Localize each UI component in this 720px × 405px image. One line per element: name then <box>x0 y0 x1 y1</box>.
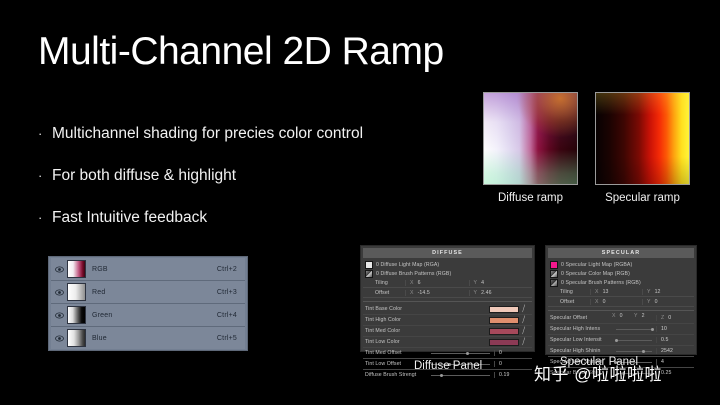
offset-y-value: 2.46 <box>481 290 492 296</box>
color-swatch[interactable] <box>489 317 519 324</box>
slider-knob[interactable] <box>440 374 443 377</box>
slider-track[interactable] <box>616 329 652 330</box>
specular-offset-y-field[interactable]: Y2 <box>634 313 656 323</box>
diffuse-panel-caption: Diffuse Panel <box>414 360 482 372</box>
axis-y-label: Y <box>474 290 478 296</box>
map-row[interactable]: 0 Specular Brush Patterns (RGB) <box>548 278 694 287</box>
zhihu-watermark: 知乎 @啦啦啦啦 <box>534 360 662 385</box>
channel-row-green[interactable]: GreenCtrl+4 <box>51 304 245 327</box>
tiling-label: Tiling <box>363 280 405 286</box>
eye-icon[interactable] <box>51 266 67 273</box>
specular-panel-header: SPECULAR <box>548 248 694 258</box>
eye-icon <box>55 312 64 319</box>
color-controls: ╱ <box>489 306 532 313</box>
map-label: 0 Specular Light Map (RGBA) <box>561 262 632 268</box>
property-label: Specular High Intens <box>550 326 612 332</box>
axis-y-label: Y <box>647 289 651 295</box>
slider-track[interactable] <box>431 353 490 354</box>
property-row[interactable]: Tint High Color╱ <box>363 315 532 326</box>
map-label: 0 Diffuse Light Map (RGA) <box>376 262 439 268</box>
channel-name: Red <box>92 289 217 296</box>
specular-offset-x-field[interactable]: X0 <box>612 313 634 323</box>
offset-x-field[interactable]: X0 <box>590 299 642 305</box>
tiling-x-field[interactable]: X6 <box>405 280 469 286</box>
specular-offset-row[interactable]: Specular Offset X0 Y2 Z0 <box>548 313 694 324</box>
property-slider[interactable] <box>612 346 656 356</box>
property-label: Tint Med Offset <box>365 350 427 356</box>
tiling-x-field[interactable]: X13 <box>590 289 642 295</box>
offset-x-value: -14.5 <box>418 290 430 296</box>
bullet-text: For both diffuse & highlight <box>52 167 236 185</box>
offset-x-field[interactable]: X-14.5 <box>405 290 469 296</box>
property-row[interactable]: Specular High Intens10 <box>548 324 694 335</box>
map-row[interactable]: 0 Diffuse Brush Patterns (RGB) <box>363 269 532 278</box>
eyedropper-icon[interactable]: ╱ <box>522 327 531 334</box>
property-value[interactable]: 2542 <box>656 348 694 354</box>
bullet-dot-icon: · <box>38 211 52 224</box>
bullet-text: Fast Intuitive feedback <box>52 209 207 227</box>
eyedropper-icon[interactable]: ╱ <box>522 316 531 323</box>
specular-ramp-image <box>595 92 690 185</box>
property-spacer <box>427 315 489 325</box>
map-label: 0 Specular Color Map (RGB) <box>561 271 630 277</box>
property-label: Diffuse Brush Strengt <box>365 372 427 378</box>
offset-row[interactable]: Offset X0 Y0 <box>548 297 694 307</box>
list-item: · Multichannel shading for precies color… <box>38 125 468 147</box>
eyedropper-icon[interactable]: ╱ <box>522 338 531 345</box>
channel-thumbnail-icon <box>67 283 86 301</box>
channel-row-blue[interactable]: BlueCtrl+5 <box>51 327 245 349</box>
map-row[interactable]: 0 Diffuse Light Map (RGA) <box>363 260 532 269</box>
property-label: Specular Low Intensit <box>550 337 612 343</box>
channel-shortcut: Ctrl+2 <box>217 266 245 273</box>
channel-row-rgb[interactable]: RGBCtrl+2 <box>51 258 245 281</box>
map-thumbnail-icon[interactable] <box>550 279 558 287</box>
channel-shortcut: Ctrl+4 <box>217 312 245 319</box>
property-value[interactable]: 0 <box>494 361 532 367</box>
property-slider[interactable] <box>612 324 656 334</box>
map-thumbnail-icon[interactable] <box>365 261 373 269</box>
slider-track[interactable] <box>616 340 652 341</box>
channel-shortcut: Ctrl+5 <box>217 335 245 342</box>
map-label: 0 Diffuse Brush Patterns (RGB) <box>376 271 451 277</box>
property-row[interactable]: Tint Med Offset0 <box>363 348 532 359</box>
color-controls: ╱ <box>489 328 532 335</box>
property-value[interactable]: 10 <box>656 326 694 332</box>
color-controls: ╱ <box>489 339 532 346</box>
property-spacer <box>427 326 489 336</box>
eye-icon <box>55 266 64 273</box>
specular-offset-z-field[interactable]: Z0 <box>656 315 694 321</box>
axis-y-label: Y <box>474 280 478 286</box>
map-label: 0 Specular Brush Patterns (RGB) <box>561 280 641 286</box>
diffuse-ramp-caption: Diffuse ramp <box>483 192 578 204</box>
map-row[interactable]: 0 Specular Color Map (RGB) <box>548 269 694 278</box>
specular-offset-x-value: 0 <box>620 313 623 319</box>
map-thumbnail-icon[interactable] <box>365 270 373 278</box>
color-controls: ╱ <box>489 317 532 324</box>
map-thumbnail-icon[interactable] <box>550 270 558 278</box>
property-value[interactable]: 0.5 <box>656 337 694 343</box>
eye-icon[interactable] <box>51 335 67 342</box>
eye-icon[interactable] <box>51 312 67 319</box>
eye-icon[interactable] <box>51 289 67 296</box>
tiling-y-field[interactable]: Y4 <box>469 280 533 286</box>
page-title: Multi-Channel 2D Ramp <box>38 30 444 74</box>
offset-y-field[interactable]: Y2.46 <box>469 290 533 296</box>
channels-panel[interactable]: RGBCtrl+2RedCtrl+3GreenCtrl+4BlueCtrl+5 <box>48 256 248 351</box>
specular-ramp-caption: Specular ramp <box>595 192 690 204</box>
property-row[interactable]: Tint Low Color╱ <box>363 337 532 348</box>
eye-icon <box>55 289 64 296</box>
eye-icon <box>55 335 64 342</box>
tiling-label: Tiling <box>548 289 590 295</box>
list-item: · Fast Intuitive feedback <box>38 209 468 231</box>
channel-name: Blue <box>92 335 217 342</box>
color-swatch[interactable] <box>489 306 519 313</box>
specular-offset-label: Specular Offset <box>550 315 612 321</box>
channel-thumbnail-icon <box>67 260 86 278</box>
map-thumbnail-icon[interactable] <box>550 261 558 269</box>
slider-knob[interactable] <box>642 350 645 353</box>
offset-y-value: 0 <box>655 299 658 305</box>
axis-x-label: X <box>595 299 599 305</box>
diffuse-panel[interactable]: DIFFUSE 0 Diffuse Light Map (RGA) 0 Diff… <box>360 245 535 352</box>
property-label: Tint Low Color <box>365 339 427 345</box>
property-spacer <box>427 304 489 314</box>
tiling-x-value: 6 <box>418 280 421 286</box>
axis-x-label: X <box>612 313 616 319</box>
offset-row[interactable]: Offset X-14.5 Y2.46 <box>363 288 532 298</box>
specular-offset-z-value: 0 <box>668 315 671 321</box>
specular-panel[interactable]: SPECULAR 0 Specular Light Map (RGBA) 0 S… <box>545 245 697 355</box>
diffuse-map-list: 0 Diffuse Light Map (RGA) 0 Diffuse Brus… <box>363 260 532 278</box>
offset-y-field[interactable]: Y0 <box>642 299 694 305</box>
axis-z-label: Z <box>661 315 664 321</box>
list-item: · For both diffuse & highlight <box>38 167 468 189</box>
axis-x-label: X <box>410 290 414 296</box>
axis-x-label: X <box>595 289 599 295</box>
diffuse-ramp-figure: Diffuse ramp <box>483 92 578 204</box>
property-label: Specular High Shinin <box>550 348 612 354</box>
channel-name: RGB <box>92 266 217 273</box>
property-slider[interactable] <box>427 348 494 358</box>
property-row[interactable]: Tint Base Color╱ <box>363 304 532 315</box>
slider-knob[interactable] <box>651 328 654 331</box>
tiling-y-value: 4 <box>481 280 484 286</box>
property-row[interactable]: Tint Med Color╱ <box>363 326 532 337</box>
slider-track[interactable] <box>616 351 652 352</box>
map-row[interactable]: 0 Specular Light Map (RGBA) <box>548 260 694 269</box>
channel-thumbnail-icon <box>67 306 86 324</box>
channel-row-red[interactable]: RedCtrl+3 <box>51 281 245 304</box>
offset-label: Offset <box>363 290 405 296</box>
offset-x-value: 0 <box>603 299 606 305</box>
bullet-dot-icon: · <box>38 127 52 140</box>
tiling-x-value: 13 <box>603 289 609 295</box>
channel-thumbnail-icon <box>67 329 86 347</box>
tiling-row[interactable]: Tiling X13 Y12 <box>548 287 694 297</box>
channel-shortcut: Ctrl+3 <box>217 289 245 296</box>
bullet-list: · Multichannel shading for precies color… <box>38 125 468 251</box>
color-swatch[interactable] <box>489 328 519 335</box>
divider <box>363 301 532 302</box>
specular-map-list: 0 Specular Light Map (RGBA) 0 Specular C… <box>548 260 694 287</box>
tiling-row[interactable]: Tiling X6 Y4 <box>363 278 532 288</box>
property-slider[interactable] <box>612 335 656 345</box>
property-label: Tint Med Color <box>365 328 427 334</box>
axis-x-label: X <box>410 280 414 286</box>
property-value[interactable]: 0 <box>494 350 532 356</box>
diffuse-panel-header: DIFFUSE <box>363 248 532 258</box>
property-value[interactable]: 0.19 <box>494 372 532 378</box>
channel-name: Green <box>92 312 217 319</box>
axis-y-label: Y <box>634 313 638 319</box>
property-label: Tint High Color <box>365 317 427 323</box>
slider-knob[interactable] <box>466 352 469 355</box>
offset-label: Offset <box>548 299 590 305</box>
divider <box>548 310 694 311</box>
bullet-text: Multichannel shading for precies color c… <box>52 125 363 143</box>
specular-ramp-figure: Specular ramp <box>595 92 690 204</box>
bullet-dot-icon: · <box>38 169 52 182</box>
diffuse-ramp-image <box>483 92 578 185</box>
color-swatch[interactable] <box>489 339 519 346</box>
property-spacer <box>427 337 489 347</box>
property-label: Tint Base Color <box>365 306 427 312</box>
tiling-y-value: 12 <box>655 289 661 295</box>
eyedropper-icon[interactable]: ╱ <box>522 305 531 312</box>
tiling-y-field[interactable]: Y12 <box>642 289 694 295</box>
axis-y-label: Y <box>647 299 651 305</box>
property-row[interactable]: Specular Low Intensit0.5 <box>548 335 694 346</box>
slider-knob[interactable] <box>615 339 618 342</box>
specular-offset-y-value: 2 <box>642 313 645 319</box>
